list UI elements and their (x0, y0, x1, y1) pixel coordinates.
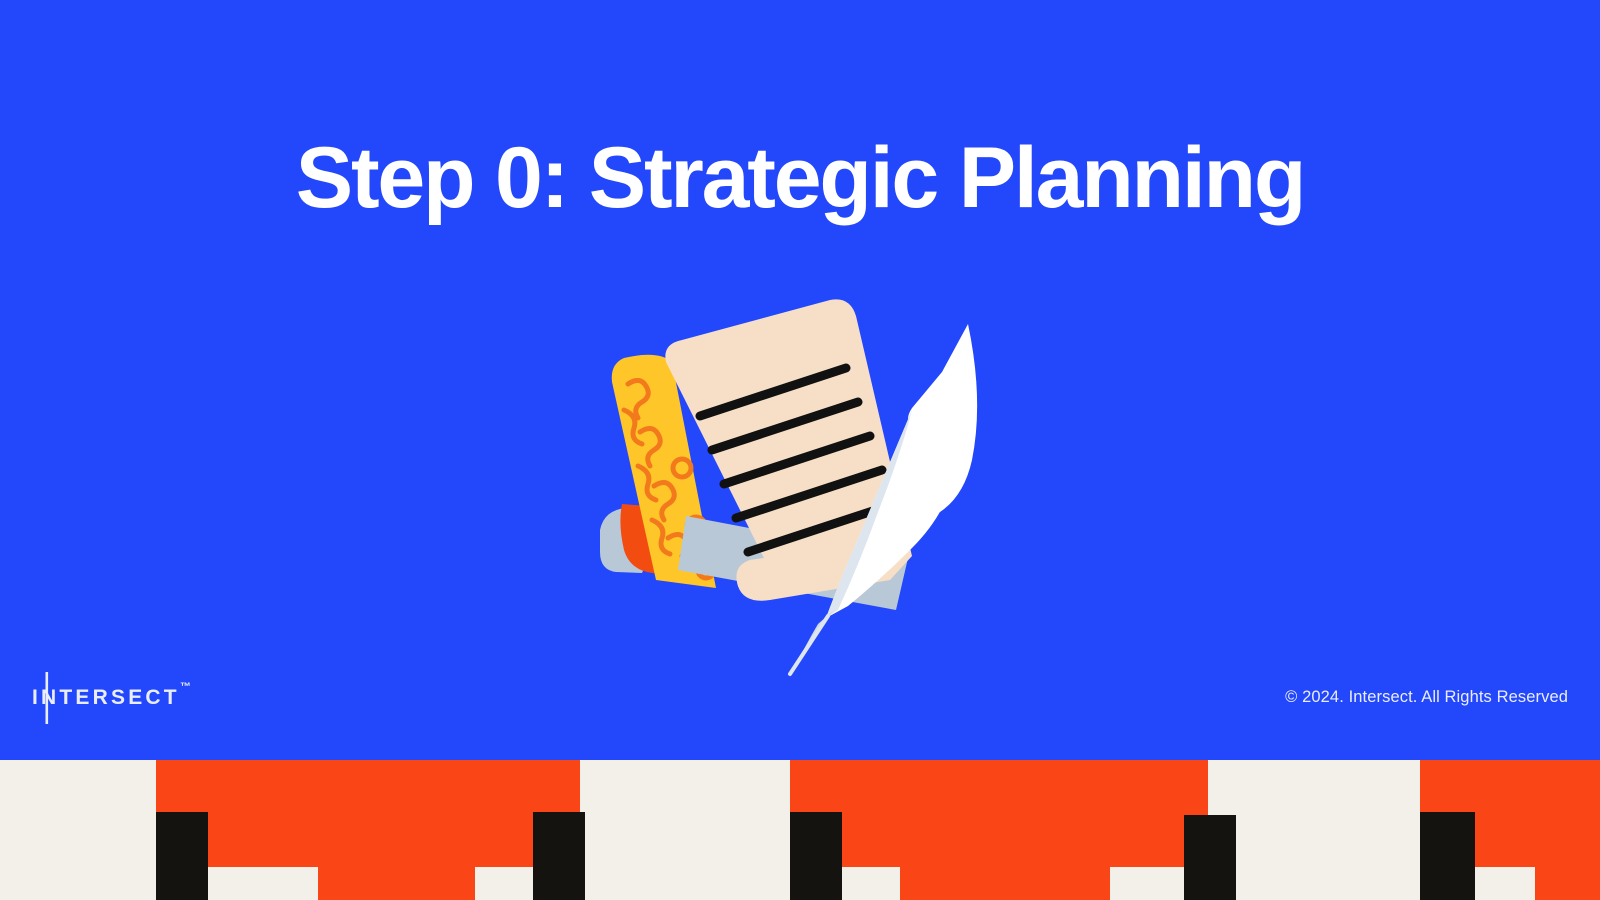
pattern-cream-notch (475, 867, 533, 900)
pattern-cream-notch (1110, 867, 1184, 900)
intersect-logo-wordmark: INTERSECT (32, 686, 180, 709)
pattern-cream-notch (208, 867, 318, 900)
copyright-text: © 2024. Intersect. All Rights Reserved (1285, 688, 1568, 707)
scroll-and-quill-illustration (560, 280, 1020, 700)
pattern-black-bar (533, 812, 585, 900)
pattern-black-bar (790, 812, 842, 900)
pattern-black-bar (1184, 815, 1236, 900)
page-title: Step 0: Strategic Planning (0, 126, 1600, 230)
decorative-pattern-strip (0, 760, 1600, 900)
pattern-cream-notch (842, 867, 900, 900)
intersect-logo: INTERSECT ™ (30, 666, 220, 728)
slide-root: Step 0: Strategic Planning (0, 0, 1600, 900)
pattern-black-bar (1420, 812, 1475, 900)
trademark-symbol: ™ (180, 681, 191, 693)
pattern-cream-notch (1475, 867, 1535, 900)
intersect-logo-stroke (46, 672, 49, 724)
pattern-black-bar (156, 812, 208, 900)
